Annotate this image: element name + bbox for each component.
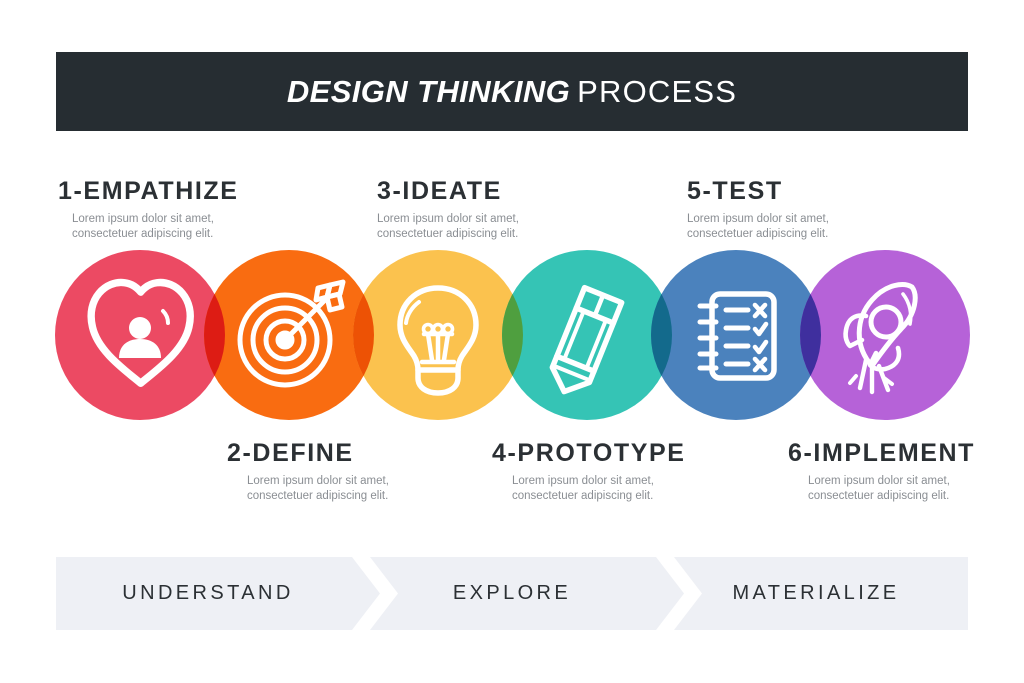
chevron-right-icon-1 xyxy=(352,557,398,630)
step-title-implement: 6-IMPLEMENT xyxy=(788,440,1024,468)
circle-group-prototype xyxy=(502,250,672,420)
step-title-ideate: 3-IDEATE xyxy=(377,178,677,206)
target-arrow-icon xyxy=(240,282,343,385)
checklist-notepad-icon xyxy=(700,294,774,378)
step-desc-ideate: Lorem ipsum dolor sit amet, consectetuer… xyxy=(377,212,677,243)
step-title-define: 2-DEFINE xyxy=(227,440,527,468)
circle-group-test xyxy=(651,250,821,420)
step-desc-prototype: Lorem ipsum dolor sit amet, consectetuer… xyxy=(512,474,792,505)
phase-row: UNDERSTAND EXPLORE MATERIALIZE xyxy=(56,557,968,630)
step-label-empathize: 1-EMPATHIZE Lorem ipsum dolor sit amet, … xyxy=(58,178,358,243)
heart-person-figure xyxy=(119,317,161,358)
phase-banner: UNDERSTAND EXPLORE MATERIALIZE xyxy=(56,557,968,630)
step-desc-implement: Lorem ipsum dolor sit amet, consectetuer… xyxy=(808,474,1024,505)
page-title-rest: PROCESS xyxy=(577,74,737,109)
step-label-define: 2-DEFINE Lorem ipsum dolor sit amet, con… xyxy=(227,440,527,505)
circle-test[interactable] xyxy=(651,250,821,420)
circle-define[interactable] xyxy=(204,250,374,420)
page-title: DESIGN THINKINGPROCESS xyxy=(287,74,737,110)
step-label-implement: 6-IMPLEMENT Lorem ipsum dolor sit amet, … xyxy=(788,440,1024,505)
circle-group-implement xyxy=(800,250,970,420)
chevron-right-icon-2 xyxy=(656,557,702,630)
step-desc-empathize: Lorem ipsum dolor sit amet, consectetuer… xyxy=(72,212,358,243)
phase-cell-understand[interactable]: UNDERSTAND xyxy=(56,557,360,630)
step-label-prototype: 4-PROTOTYPE Lorem ipsum dolor sit amet, … xyxy=(492,440,792,505)
circle-empathize[interactable] xyxy=(55,250,225,420)
pencil-icon xyxy=(546,288,622,399)
overlap-define-ideate xyxy=(353,250,523,420)
lightbulb-icon xyxy=(400,288,476,393)
step-desc-define: Lorem ipsum dolor sit amet, consectetuer… xyxy=(247,474,527,505)
phase-label-materialize: MATERIALIZE xyxy=(732,582,899,605)
header-bar: DESIGN THINKINGPROCESS xyxy=(56,52,968,131)
overlap-prototype-test xyxy=(651,250,821,420)
circle-prototype[interactable] xyxy=(502,250,672,420)
heart-person-icon xyxy=(91,283,190,384)
step-title-prototype: 4-PROTOTYPE xyxy=(492,440,792,468)
rocket-icon xyxy=(846,285,916,392)
circle-group-empathize xyxy=(55,250,225,420)
overlap-empathize-define xyxy=(204,250,374,420)
overlap-ideate-prototype xyxy=(502,250,672,420)
circle-group-ideate xyxy=(353,250,523,420)
phase-cell-materialize[interactable]: MATERIALIZE xyxy=(664,557,968,630)
infographic-canvas: DESIGN THINKINGPROCESS xyxy=(0,0,1024,683)
circle-implement[interactable] xyxy=(800,250,970,420)
phase-label-explore: EXPLORE xyxy=(453,582,571,605)
phase-cell-explore[interactable]: EXPLORE xyxy=(360,557,664,630)
step-label-ideate: 3-IDEATE Lorem ipsum dolor sit amet, con… xyxy=(377,178,677,243)
phase-label-understand: UNDERSTAND xyxy=(122,582,293,605)
step-title-empathize: 1-EMPATHIZE xyxy=(58,178,358,206)
circle-ideate[interactable] xyxy=(353,250,523,420)
page-title-strong: DESIGN THINKING xyxy=(287,74,570,109)
circle-group-define xyxy=(204,250,374,420)
step-title-test: 5-TEST xyxy=(687,178,987,206)
step-label-test: 5-TEST Lorem ipsum dolor sit amet, conse… xyxy=(687,178,987,243)
step-desc-test: Lorem ipsum dolor sit amet, consectetuer… xyxy=(687,212,987,243)
overlap-test-implement xyxy=(800,250,970,420)
